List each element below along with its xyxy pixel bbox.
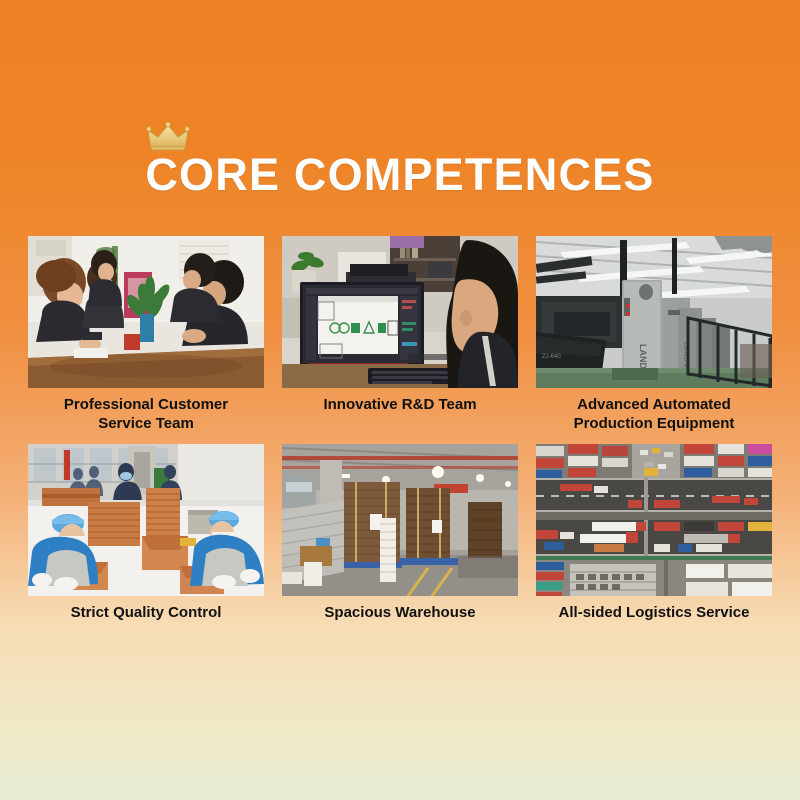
core-competences-banner: CORE COMPETENCES <box>0 0 800 800</box>
card-caption: Strict Quality Control <box>28 603 264 622</box>
svg-text:ZJ-640: ZJ-640 <box>542 354 561 360</box>
card-caption: Innovative R&D Team <box>282 395 518 414</box>
competence-card[interactable]: Spacious Warehouse <box>282 444 518 622</box>
warehouse-photo <box>282 444 518 596</box>
competence-card-grid: Professional Customer Service Team <box>28 236 772 623</box>
title-inner: CORE COMPETENCES <box>145 152 654 197</box>
page-title: CORE COMPETENCES <box>145 152 654 197</box>
card-caption: Professional Customer Service Team <box>28 395 264 433</box>
meeting-room-photo <box>28 236 264 388</box>
card-caption: All-sided Logistics Service <box>536 603 772 622</box>
crown-icon <box>147 122 189 154</box>
competence-card[interactable]: All-sided Logistics Service <box>536 444 772 622</box>
card-caption: Advanced Automated Production Equipment <box>536 395 772 433</box>
quality-inspection-photo <box>28 444 264 596</box>
competence-card[interactable]: Strict Quality Control <box>28 444 264 622</box>
competence-card[interactable]: Professional Customer Service Team <box>28 236 264 433</box>
title-block: CORE COMPETENCES <box>0 152 800 197</box>
designer-computer-photo <box>282 236 518 388</box>
card-caption: Spacious Warehouse <box>282 603 518 622</box>
printing-press-photo: LAND 800 LAND 800 ZJ-640 <box>536 236 772 388</box>
logistics-aerial-photo <box>536 444 772 596</box>
competence-card[interactable]: Innovative R&D Team <box>282 236 518 433</box>
competence-card[interactable]: LAND 800 LAND 800 ZJ-640 <box>536 236 772 433</box>
